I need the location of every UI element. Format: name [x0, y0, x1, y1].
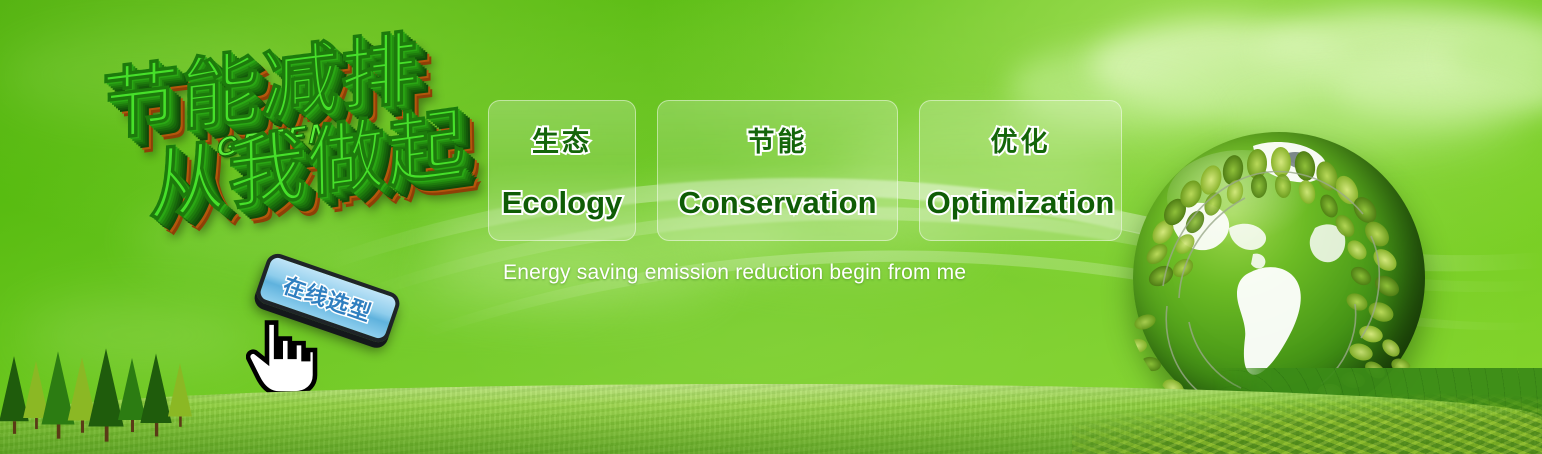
feature-card-ecology[interactable]: 生态 Ecology [488, 100, 636, 241]
feature-card-en-label: Ecology [502, 185, 623, 221]
feature-card-en-label: Conservation [678, 185, 876, 221]
feature-card-optimization[interactable]: 优化 Optimization [919, 100, 1122, 241]
fallen-leaf-litter [1072, 390, 1542, 454]
feature-cards: 生态 Ecology 节能 Conservation 优化 Optimizati… [488, 100, 1122, 241]
conifer-tree-group [0, 346, 200, 432]
feature-card-en-label: Optimization [927, 185, 1115, 221]
feature-card-conservation[interactable]: 节能 Conservation [657, 100, 898, 241]
tagline: Energy saving emission reduction begin f… [503, 261, 966, 285]
feature-card-cn-label: 生态 [532, 120, 592, 159]
globe-highlight [1167, 150, 1317, 246]
conifer-tree [168, 363, 192, 427]
feature-card-cn-label: 优化 [991, 120, 1051, 159]
feature-card-cn-label: 节能 [748, 120, 808, 159]
eco-banner: 节能减排 GREEN 从我做起 在线选型 生态 Ecology 节能 Conse… [0, 0, 1542, 454]
headline-3d-title: 节能减排 GREEN 从我做起 [89, 18, 511, 289]
hand-pointer-icon [246, 318, 320, 398]
